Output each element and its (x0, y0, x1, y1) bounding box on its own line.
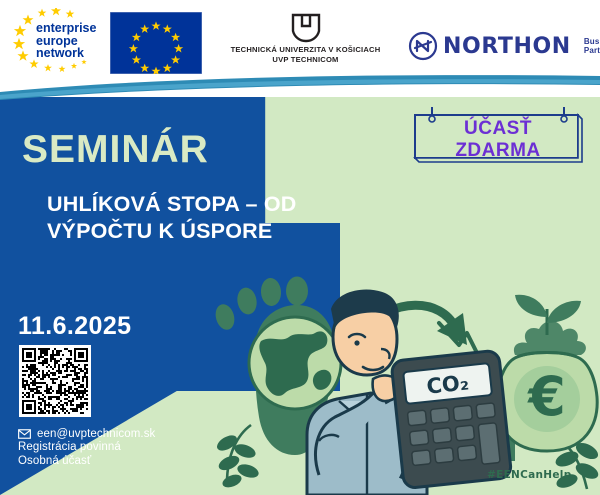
campaign-hashtag: #EENCanHelp (487, 469, 572, 481)
registration-note-1: Registrácia povinná (18, 440, 155, 454)
email-row[interactable]: een@uvptechnicom.sk (18, 428, 155, 440)
technical-university-kosice-logo: TECHNICKÁ UNIVERZITA V KOŠICIACH UVP TEC… (213, 13, 398, 75)
carbon-footprint-illustration: € (215, 275, 600, 495)
northon-mark-icon (408, 31, 438, 61)
badge-line-2: ZDARMA (412, 140, 584, 162)
eu-flag-svg (110, 12, 202, 74)
poster-title-line-2: VÝPOČTU K ÚSPORE (47, 218, 297, 245)
northon-wordmark: NORTHON (443, 34, 571, 59)
calculator-icon: CO₂ (391, 350, 512, 489)
badge-line-1: ÚČASŤ (412, 118, 584, 140)
poster-title: UHLÍKOVÁ STOPA – OD VÝPOČTU K ÚSPORE (47, 191, 297, 245)
event-date: 11.6.2025 (18, 312, 131, 341)
free-participation-badge: ÚČASŤ ZDARMA (412, 107, 584, 169)
northon-logo: NORTHON Business Partner. (408, 26, 594, 66)
header-swoosh-decoration (0, 75, 600, 100)
poster-eyebrow: SEMINÁR (22, 128, 209, 172)
badge-text: ÚČASŤ ZDARMA (412, 118, 584, 162)
european-union-flag (110, 12, 202, 74)
money-bag-icon: € (497, 295, 597, 451)
northon-tagline-line-1: Business (584, 37, 600, 47)
tuke-shield-icon (290, 13, 322, 43)
tuke-name-line-1: TECHNICKÁ UNIVERZITA V KOŠICIACH (213, 45, 398, 55)
leaf-branch-left (215, 425, 260, 490)
tuke-name-line-2: UVP TECHNICOM (213, 55, 398, 65)
poster-title-line-1: UHLÍKOVÁ STOPA – OD (47, 191, 297, 218)
northon-tagline: Business Partner. (584, 37, 600, 56)
contact-block: een@uvptechnicom.sk Registrácia povinná … (18, 428, 155, 468)
registration-qr-code[interactable] (19, 345, 91, 417)
qr-code-svg[interactable] (22, 348, 88, 414)
registration-note-2: Osobná účasť (18, 454, 155, 468)
enterprise-europe-network-logo: enterprise europe network (6, 8, 106, 74)
een-line-3: network (36, 47, 96, 60)
calculator-display-label: CO₂ (425, 370, 470, 398)
seminar-poster: enterprise europe network (0, 0, 600, 495)
envelope-icon (18, 429, 31, 439)
money-bag-euro-symbol: € (526, 365, 566, 428)
northon-tagline-line-2: Partner. (584, 46, 600, 56)
logo-header-bar: enterprise europe network (0, 0, 600, 97)
contact-email[interactable]: een@uvptechnicom.sk (37, 428, 155, 440)
een-line-1: enterprise (36, 22, 96, 35)
